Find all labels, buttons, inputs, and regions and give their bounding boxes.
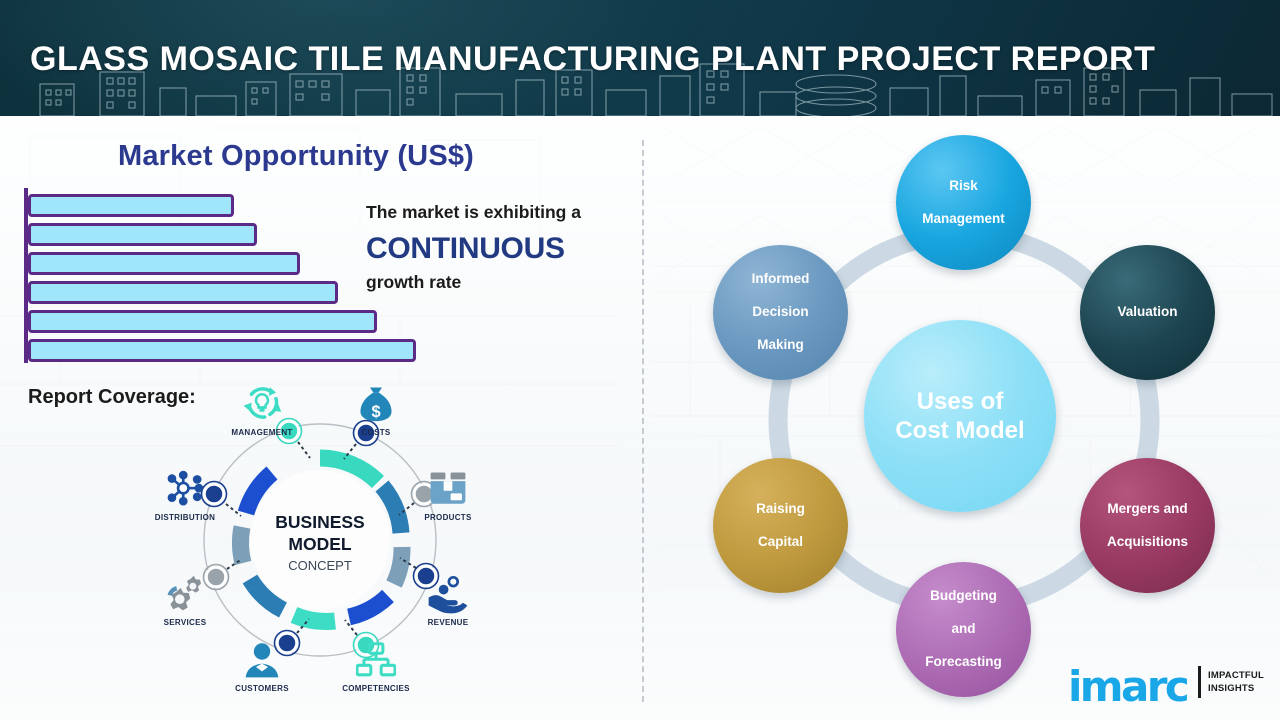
callout-line-1: The market is exhibiting a bbox=[366, 202, 634, 224]
uses-of-cost-model-diagram: Uses of Cost Model Risk Management Valua… bbox=[660, 120, 1280, 720]
network-nodes-icon bbox=[139, 463, 231, 509]
tagline-line-1: IMPACTFUL bbox=[1208, 670, 1264, 683]
node-line: and bbox=[919, 621, 1008, 637]
node-line: Risk bbox=[916, 178, 1011, 194]
node-raising-capital[interactable]: Raising Capital bbox=[713, 458, 848, 593]
header-banner: GLASS MOSAIC TILE MANUFACTURING PLANT PR… bbox=[0, 0, 1280, 116]
coverage-label: DISTRIBUTION bbox=[139, 513, 231, 522]
node-informed-decision-making[interactable]: Informed Decision Making bbox=[713, 245, 848, 380]
bar-row bbox=[28, 281, 338, 304]
node-line: Forecasting bbox=[919, 654, 1008, 670]
node-budgeting-and-forecasting[interactable]: Budgeting and Forecasting bbox=[896, 562, 1031, 697]
svg-text:$: $ bbox=[371, 403, 380, 421]
node-line: Making bbox=[746, 337, 816, 353]
org-chart-icon bbox=[330, 634, 422, 680]
imarc-tagline: IMPACTFUL INSIGHTS bbox=[1208, 670, 1264, 695]
coverage-label: COSTS bbox=[330, 428, 422, 437]
wheel-line-1: BUSINESS bbox=[275, 512, 364, 532]
coverage-label: CUSTOMERS bbox=[216, 684, 308, 693]
center-line-1: Uses of bbox=[889, 387, 1030, 416]
tagline-line-2: INSIGHTS bbox=[1208, 683, 1264, 696]
coverage-item-management[interactable]: MANAGEMENT bbox=[216, 378, 308, 437]
business-model-wheel-graphic: BUSINESS MODEL CONCEPT bbox=[150, 370, 490, 710]
bar-row bbox=[28, 194, 234, 217]
callout-line-3: growth rate bbox=[366, 272, 634, 294]
page-title: GLASS MOSAIC TILE MANUFACTURING PLANT PR… bbox=[30, 40, 1155, 79]
recycle-lightbulb-icon bbox=[216, 378, 308, 424]
business-model-wheel-svg: BUSINESS MODEL CONCEPT bbox=[150, 370, 490, 710]
coverage-item-services[interactable]: SERVICES bbox=[139, 568, 231, 627]
node-line: Budgeting bbox=[919, 588, 1008, 604]
growth-callout: The market is exhibiting a CONTINUOUS gr… bbox=[366, 202, 634, 294]
imarc-wordmark: imarc bbox=[1068, 662, 1187, 711]
coverage-label: SERVICES bbox=[139, 618, 231, 627]
node-line: Capital bbox=[750, 534, 811, 550]
node-line: Decision bbox=[746, 304, 816, 320]
coverage-label: REVENUE bbox=[402, 618, 494, 627]
imarc-logo[interactable]: imarc IMPACTFUL INSIGHTS bbox=[1068, 660, 1268, 708]
coverage-item-customers[interactable]: CUSTOMERS bbox=[216, 634, 308, 693]
panel-divider bbox=[642, 140, 644, 702]
hand-coins-icon bbox=[402, 568, 494, 614]
bar-row bbox=[28, 223, 257, 246]
node-line: Valuation bbox=[1111, 304, 1183, 320]
coverage-item-costs[interactable]: $ COSTS bbox=[330, 378, 422, 437]
coverage-label: MANAGEMENT bbox=[216, 428, 308, 437]
bar-row bbox=[28, 310, 377, 333]
node-mergers-and-acquisitions[interactable]: Mergers and Acquisitions bbox=[1080, 458, 1215, 593]
bar-row bbox=[28, 339, 416, 362]
node-line: Acquisitions bbox=[1101, 534, 1194, 550]
money-bag-icon: $ bbox=[330, 378, 422, 424]
market-opportunity-bar-chart bbox=[24, 188, 424, 363]
coverage-label: COMPETENCIES bbox=[330, 684, 422, 693]
coverage-item-competencies[interactable]: COMPETENCIES bbox=[330, 634, 422, 693]
market-opportunity-title: Market Opportunity (US$) bbox=[118, 140, 474, 173]
slide-root: GLASS MOSAIC TILE MANUFACTURING PLANT PR… bbox=[0, 0, 1280, 720]
node-line: Raising bbox=[750, 501, 811, 517]
logo-separator-bar bbox=[1198, 666, 1201, 698]
product-box-icon bbox=[402, 463, 494, 509]
wheel-line-2: MODEL bbox=[288, 534, 352, 554]
customer-person-icon bbox=[216, 634, 308, 680]
node-line: Informed bbox=[746, 271, 816, 287]
node-risk-management[interactable]: Risk Management bbox=[896, 135, 1031, 270]
node-valuation[interactable]: Valuation bbox=[1080, 245, 1215, 380]
callout-line-2: CONTINUOUS bbox=[366, 229, 634, 268]
coverage-item-revenue[interactable]: REVENUE bbox=[402, 568, 494, 627]
coverage-item-distribution[interactable]: DISTRIBUTION bbox=[139, 463, 231, 522]
center-line-2: Cost Model bbox=[889, 416, 1030, 445]
node-line: Mergers and bbox=[1101, 501, 1194, 517]
coverage-label: PRODUCTS bbox=[402, 513, 494, 522]
wheel-line-3: CONCEPT bbox=[288, 558, 352, 573]
gears-icon bbox=[139, 568, 231, 614]
center-node-uses-of-cost-model[interactable]: Uses of Cost Model bbox=[864, 320, 1056, 512]
bar-row bbox=[28, 252, 300, 275]
node-line: Management bbox=[916, 211, 1011, 227]
coverage-item-products[interactable]: PRODUCTS bbox=[402, 463, 494, 522]
